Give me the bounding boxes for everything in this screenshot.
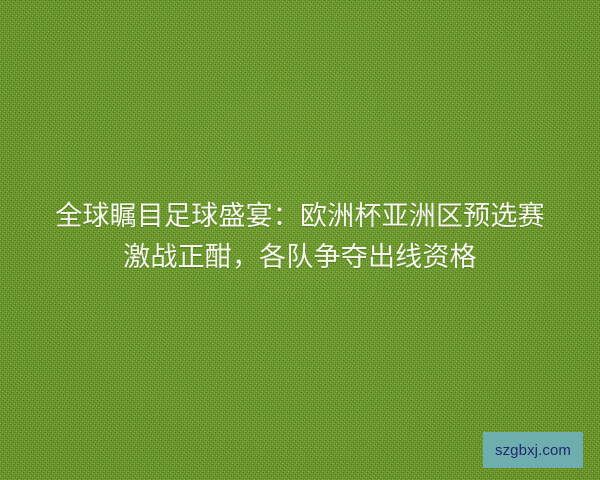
headline-line-1: 全球瞩目足球盛宴：欧洲杯亚洲区预选赛 (14, 196, 586, 237)
banner-image: 全球瞩目足球盛宴：欧洲杯亚洲区预选赛 激战正酣，各队争夺出线资格 szgbxj.… (0, 0, 600, 480)
headline-line-2: 激战正酣，各队争夺出线资格 (14, 237, 586, 278)
headline-text: 全球瞩目足球盛宴：欧洲杯亚洲区预选赛 激战正酣，各队争夺出线资格 (0, 196, 600, 278)
watermark-domain-label: szgbxj.com (495, 443, 571, 458)
watermark-badge: szgbxj.com (483, 432, 583, 468)
